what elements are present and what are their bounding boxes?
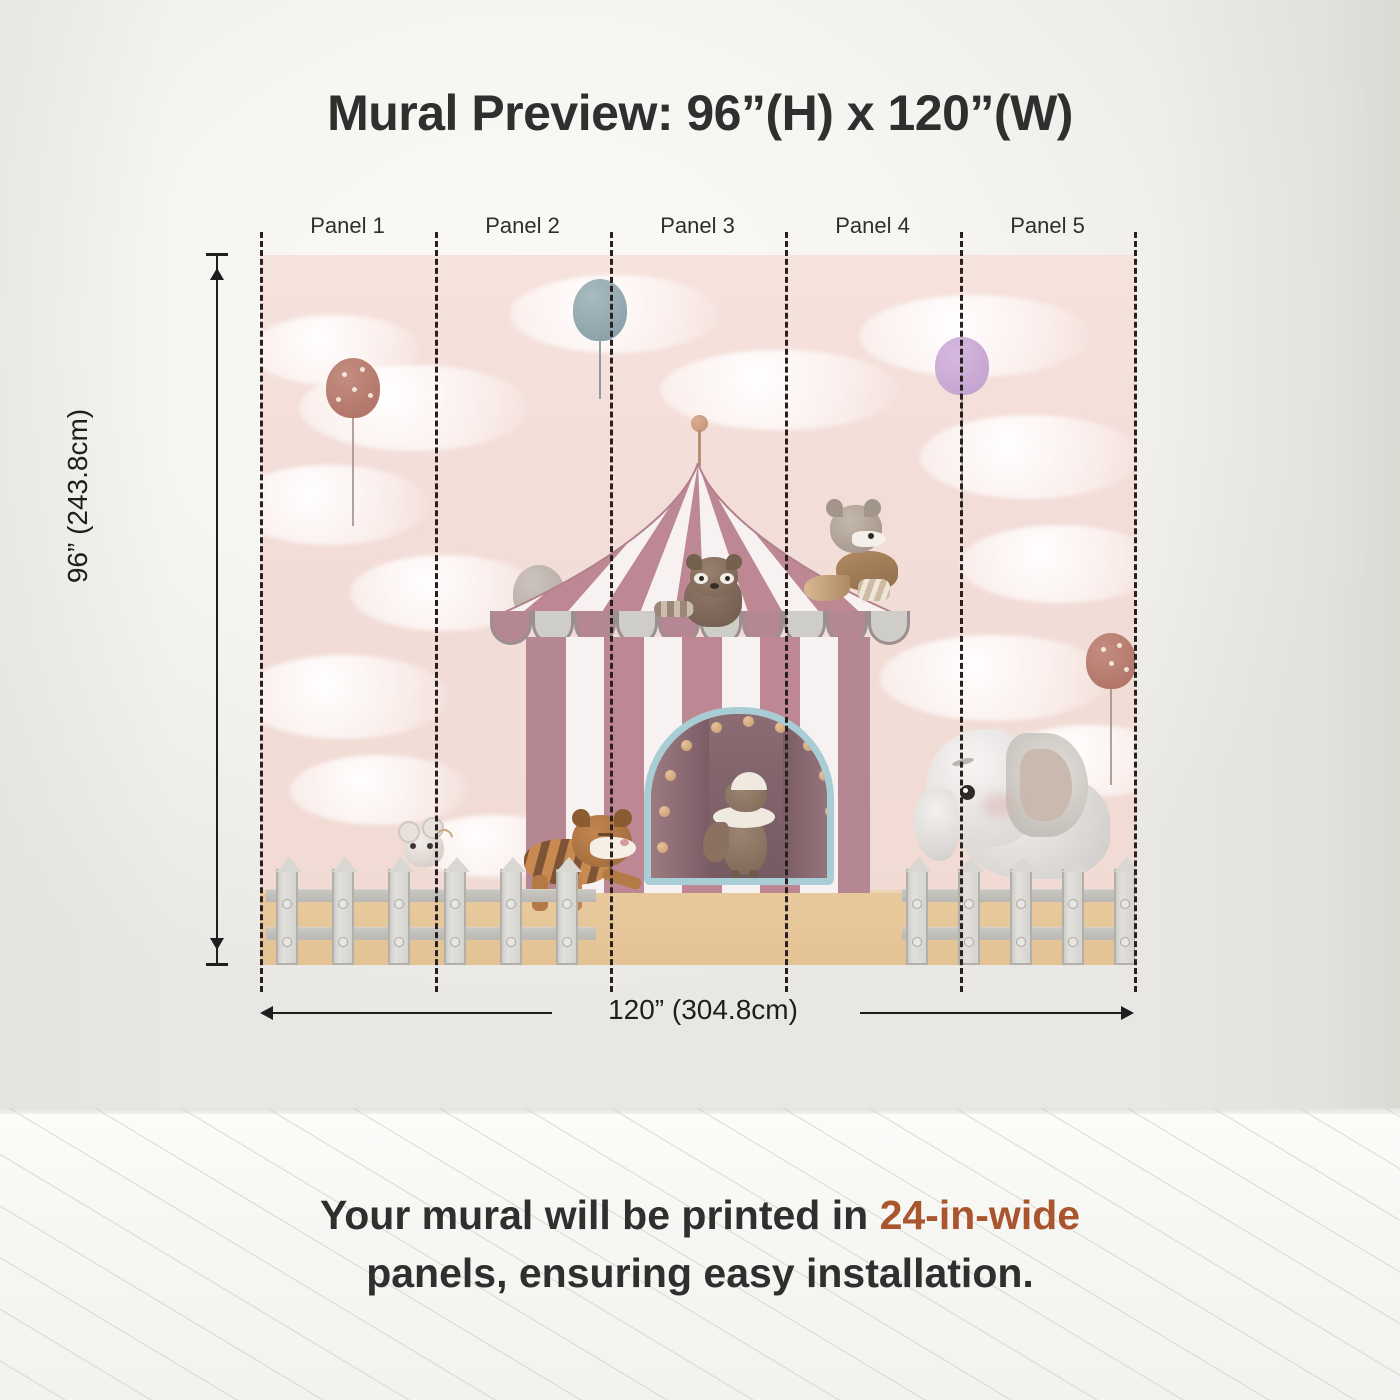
width-arrow-right	[1121, 1006, 1134, 1020]
mural-preview-artwork[interactable]	[260, 255, 1135, 965]
panel-label-2: Panel 2	[435, 213, 610, 239]
footer-caption: Your mural will be printed in 24-in-wide…	[0, 1186, 1400, 1302]
panel-divider-4	[960, 232, 963, 992]
panel-label-4: Panel 4	[785, 213, 960, 239]
panel-divider-1	[435, 232, 438, 992]
caption-line-1: Your mural will be printed in 24-in-wide	[0, 1186, 1400, 1244]
cloud	[260, 655, 450, 739]
caption-line-2: panels, ensuring easy installation.	[0, 1244, 1400, 1302]
height-tick-bottom	[206, 963, 228, 966]
width-dimension-line-left	[262, 1012, 552, 1014]
wall-shading-right	[1160, 0, 1400, 1108]
width-dimension-line-right	[860, 1012, 1132, 1014]
panel-divider-0	[260, 232, 263, 992]
panel-divider-2	[610, 232, 613, 992]
cloud	[920, 415, 1135, 499]
raccoon	[656, 555, 754, 627]
height-arrow-up	[210, 268, 224, 280]
height-tick-top	[206, 253, 228, 256]
height-arrow-down	[210, 938, 224, 950]
panel-label-3: Panel 3	[610, 213, 785, 239]
panel-label-1: Panel 1	[260, 213, 435, 239]
caption-accent: 24-in-wide	[880, 1192, 1080, 1238]
caption-prefix: Your mural will be printed in	[320, 1192, 880, 1238]
squirrel-clown	[705, 770, 785, 885]
panel-divider-3	[785, 232, 788, 992]
panel-label-row: Panel 1 Panel 2 Panel 3 Panel 4 Panel 5	[260, 213, 1135, 243]
tent-entrance	[644, 707, 834, 885]
fence-left	[260, 857, 600, 965]
cloud	[880, 635, 1110, 721]
width-label: 120” (304.8cm)	[548, 994, 858, 1026]
fence-right	[896, 857, 1135, 965]
tent-finial-rod	[698, 430, 701, 466]
cloud	[960, 525, 1135, 603]
height-label: 96” (243.8cm)	[62, 346, 94, 646]
panel-divider-5	[1134, 232, 1137, 992]
cloud	[260, 465, 430, 545]
width-arrow-left	[260, 1006, 273, 1020]
fox-acrobat	[806, 495, 916, 625]
page-title: Mural Preview: 96”(H) x 120”(W)	[0, 84, 1400, 142]
height-dimension-line	[216, 253, 218, 965]
panel-label-5: Panel 5	[960, 213, 1135, 239]
